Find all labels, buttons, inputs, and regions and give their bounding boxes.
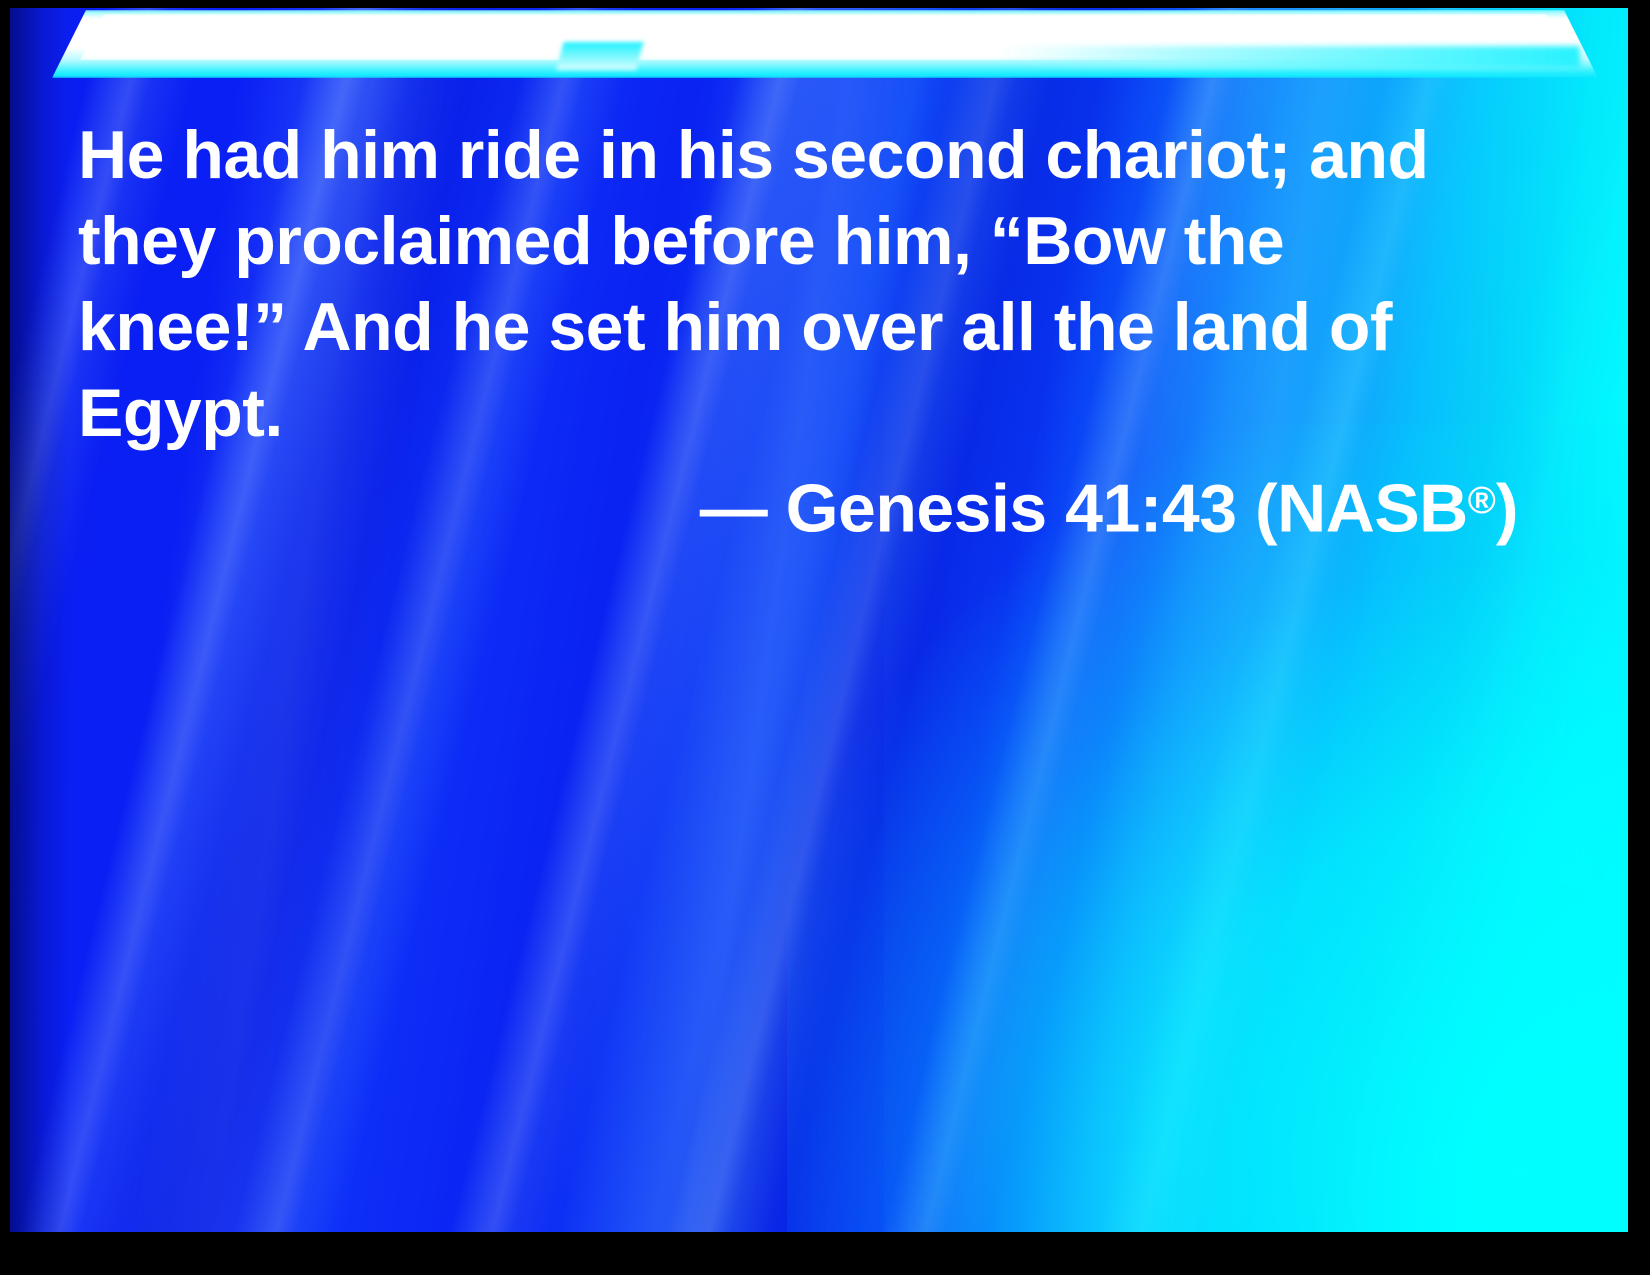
attribution-dash: — xyxy=(700,470,768,546)
attribution-book: Genesis xyxy=(786,470,1047,546)
attribution-translation-close: ) xyxy=(1496,470,1518,546)
slide-frame: He had him ride in his second chariot; a… xyxy=(0,0,1650,1275)
verse-line-4: Egypt. xyxy=(78,370,1498,456)
verse-line-1: He had him ride in his second chariot; a… xyxy=(78,112,1498,198)
left-edge-shadow xyxy=(10,8,70,1232)
verse-line-3: knee!” And he set him over all the land … xyxy=(78,284,1498,370)
registered-trademark-icon: ® xyxy=(1468,480,1496,522)
verse-attribution: — Genesis 41:43 (NASB®) xyxy=(78,458,1530,551)
attribution-translation-open: (NASB xyxy=(1255,470,1468,546)
verse-text-block: He had him ride in his second chariot; a… xyxy=(78,112,1498,456)
attribution-reference: 41:43 xyxy=(1065,470,1236,546)
verse-line-2: they proclaimed before him, “Bow the xyxy=(78,198,1498,284)
